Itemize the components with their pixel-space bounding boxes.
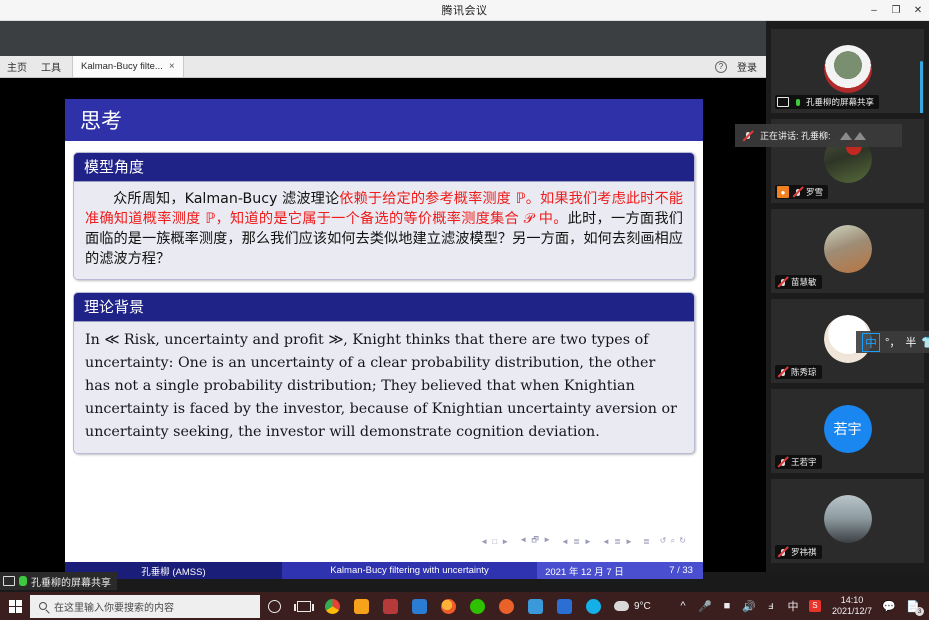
system-tray: ^ 🎤 ■ 🔊 ⅎ 中 S 14:10 2021/12/7 💬 📄 3 <box>672 592 929 620</box>
minimize-button[interactable]: – <box>863 0 885 21</box>
participant-label: 罗祎祺 <box>775 545 822 559</box>
ime-punctuation-icon[interactable]: °， <box>885 334 900 350</box>
english-paragraph: In ≪ Risk, uncertainty and profit ≫, Kni… <box>85 329 683 445</box>
windows-logo-icon <box>9 600 22 613</box>
nav-glyph-back-search-forward[interactable]: ↺ ⌕ ↻ <box>660 536 687 546</box>
microphone-on-icon <box>792 96 803 108</box>
bluetooth-tray-icon[interactable]: ⅎ <box>760 592 782 620</box>
nav-glyph-slide[interactable]: ◄ □ ► <box>480 537 510 546</box>
footer-meta: 2021 年 12 月 7 日 7 / 33 <box>537 562 703 579</box>
block-theoretical-background: 理论背景 In ≪ Risk, uncertainty and profit ≫… <box>73 292 695 455</box>
footer-page-number: 7 / 33 <box>669 565 693 576</box>
avatar <box>824 45 872 93</box>
window-titlebar: 腾讯会议 – ❐ ✕ <box>0 0 929 21</box>
participant-label: 王若宇 <box>775 455 822 469</box>
audio-wave-icon <box>840 132 866 140</box>
tray-expand-button[interactable]: ^ <box>672 592 694 620</box>
cloud-icon <box>614 601 629 611</box>
participant-name: 苗慧敏 <box>791 276 817 288</box>
taskbar-app-tim[interactable] <box>579 592 608 620</box>
avatar-image <box>824 225 872 273</box>
participant-label: 苗慧敏 <box>775 275 822 289</box>
microphone-muted-icon <box>777 456 788 468</box>
task-view-icon <box>297 601 311 612</box>
taskbar-app-chrome[interactable] <box>318 592 347 620</box>
task-view-button[interactable] <box>289 592 318 620</box>
participant-label: 陈秀琼 <box>775 365 822 379</box>
clock-time: 14:10 <box>832 595 872 606</box>
screen-share-icon <box>3 576 15 586</box>
participant-tile[interactable]: 罗祎祺 <box>771 479 924 563</box>
tim-icon <box>586 599 601 614</box>
document-tab[interactable]: Kalman-Bucy filte... × <box>72 56 184 77</box>
sogou-ime-icon[interactable]: S <box>804 592 826 620</box>
ime-shape-icon[interactable]: 👕 <box>921 336 929 349</box>
host-badge-icon: ● <box>777 186 789 198</box>
nav-glyph-section[interactable]: ◄ ≣ ► <box>602 537 634 546</box>
close-tab-icon[interactable]: × <box>169 61 175 72</box>
block-model-perspective: 模型角度 众所周知，Kalman-Bucy 滤波理论依赖于给定的参考概率测度 ℙ… <box>73 152 695 280</box>
cortana-button[interactable] <box>260 592 289 620</box>
screen-share-toast[interactable]: 孔垂柳的屏幕共享 <box>0 572 117 590</box>
microphone-muted-icon <box>742 130 753 142</box>
block-content: In ≪ Risk, uncertainty and profit ≫, Kni… <box>74 322 694 454</box>
block-content: 众所周知，Kalman-Bucy 滤波理论依赖于给定的参考概率测度 ℙ。如果我们… <box>74 182 694 279</box>
action-center-icon[interactable]: 💬 <box>878 592 900 620</box>
nav-glyph-document[interactable]: ≣ <box>643 537 651 546</box>
block-heading: 理论背景 <box>74 293 694 322</box>
taskbar-clock[interactable]: 14:10 2021/12/7 <box>826 595 878 617</box>
ime-language-icon[interactable]: 中 <box>782 592 804 620</box>
battery-tray-icon[interactable]: ■ <box>716 592 738 620</box>
taskbar-app-folder[interactable] <box>347 592 376 620</box>
taskbar-app-wechat[interactable] <box>463 592 492 620</box>
shared-screen-content: 主页 工具 Kalman-Bucy filte... × ? 登录 思考 <box>0 21 766 572</box>
footer-date: 2021 年 12 月 7 日 <box>545 564 624 578</box>
speaking-banner-text: 正在讲话: 孔垂柳: <box>760 129 831 142</box>
participant-name: 王若宇 <box>791 456 817 468</box>
ime-width-icon[interactable]: 半 <box>905 334 916 350</box>
start-button[interactable] <box>0 592 30 620</box>
login-button[interactable]: 登录 <box>737 59 757 74</box>
taskbar-app-meeting[interactable] <box>550 592 579 620</box>
taskbar-app-browser2[interactable] <box>492 592 521 620</box>
document-tab-label: Kalman-Bucy filte... <box>81 61 163 72</box>
notification-count-badge: 3 <box>915 607 924 616</box>
nav-glyph-subsection[interactable]: ◄ ≣ ► <box>561 537 593 546</box>
slide-footer: 孔垂柳 (AMSS) Kalman-Bucy filtering with un… <box>65 562 703 579</box>
shared-screen-area: 主页 工具 Kalman-Bucy filte... × ? 登录 思考 <box>0 21 766 572</box>
avatar-image <box>824 495 872 543</box>
chinese-paragraph: 众所周知，Kalman-Bucy 滤波理论依赖于给定的参考概率测度 ℙ。如果我们… <box>85 189 683 270</box>
microphone-muted-icon <box>792 186 803 198</box>
reader-app-band <box>0 21 766 56</box>
maximize-button[interactable]: ❐ <box>885 0 907 21</box>
mail-icon <box>412 599 427 614</box>
wechat-icon <box>470 599 485 614</box>
participant-tile[interactable]: 苗慧敏 <box>771 209 924 293</box>
avatar: 若宇 <box>824 405 872 453</box>
photos-icon <box>528 599 543 614</box>
ime-overlay[interactable]: 中 °， 半 👕 <box>856 331 929 353</box>
beamer-navigation: ◄ □ ► ◄ 🗗 ► ◄ ≣ ► ◄ ≣ ► ≣ ↺ ⌕ ↻ <box>65 534 703 548</box>
folder-icon <box>354 599 369 614</box>
browser-icon <box>499 599 514 614</box>
text-segment-black-1: 众所周知，Kalman-Bucy 滤波理论 <box>113 191 339 207</box>
menu-item-tools[interactable]: 工具 <box>34 56 68 77</box>
speaking-banner: 正在讲话: 孔垂柳: <box>735 124 902 147</box>
microphone-muted-icon <box>777 546 788 558</box>
reader-tabbar-right: ? 登录 <box>715 56 766 77</box>
window-controls: – ❐ ✕ <box>863 0 929 21</box>
window-title: 腾讯会议 <box>442 2 488 18</box>
taskbar-app-firefox[interactable] <box>434 592 463 620</box>
notification-center-button[interactable]: 📄 3 <box>900 592 926 620</box>
microphone-muted-icon <box>777 276 788 288</box>
participant-name: 陈秀琼 <box>791 366 817 378</box>
avatar-initials: 若宇 <box>824 405 872 453</box>
nav-glyph-frame[interactable]: ◄ 🗗 ► <box>519 534 552 548</box>
meeting-icon <box>557 599 572 614</box>
close-button[interactable]: ✕ <box>907 0 929 21</box>
cortana-icon <box>268 600 281 613</box>
clock-date: 2021/12/7 <box>832 606 872 617</box>
screen-share-toast-text: 孔垂柳的屏幕共享 <box>31 574 111 589</box>
weather-widget[interactable]: 9°C <box>614 601 651 612</box>
chrome-icon <box>325 599 340 614</box>
participant-tile[interactable]: 若宇 王若宇 <box>771 389 924 473</box>
search-icon <box>39 602 47 610</box>
help-icon[interactable]: ? <box>715 61 727 73</box>
participant-tile[interactable]: 孔垂柳的屏幕共享 <box>771 29 924 113</box>
footer-subject: Kalman-Bucy filtering with uncertainty <box>282 562 537 579</box>
avatar-image <box>824 45 872 93</box>
participants-rail[interactable]: 孔垂柳的屏幕共享 ● 罗雪 苗慧敏 <box>766 21 929 572</box>
volume-tray-icon[interactable]: 🔊 <box>738 592 760 620</box>
rail-scrollbar[interactable] <box>920 61 923 113</box>
slide-title: 思考 <box>65 99 703 141</box>
participant-label: 孔垂柳的屏幕共享 <box>775 95 879 109</box>
reader-tabbar: 主页 工具 Kalman-Bucy filte... × ? 登录 <box>0 56 766 78</box>
firefox-icon <box>441 599 456 614</box>
avatar <box>824 225 872 273</box>
participant-label: ● 罗雪 <box>775 185 828 199</box>
menu-item-home[interactable]: 主页 <box>0 56 34 77</box>
search-placeholder: 在这里输入你要搜索的内容 <box>54 599 174 614</box>
slide-body: 模型角度 众所周知，Kalman-Bucy 滤波理论依赖于给定的参考概率测度 ℙ… <box>65 141 703 454</box>
windows-taskbar: 在这里输入你要搜索的内容 9°C ^ 🎤 ■ 🔊 ⅎ 中 S 14:10 <box>0 592 929 620</box>
screen-share-icon <box>777 97 789 107</box>
block-heading: 模型角度 <box>74 153 694 182</box>
taskbar-app-photos[interactable] <box>521 592 550 620</box>
participant-name: 孔垂柳的屏幕共享 <box>806 96 874 108</box>
weather-temperature: 9°C <box>634 601 651 612</box>
avatar <box>824 495 872 543</box>
ime-mode-icon[interactable]: 中 <box>862 333 880 352</box>
text-segment-red-1: 依赖于给定的参考概率测度 ℙ。 <box>339 191 540 207</box>
pdf-slide: 思考 模型角度 众所周知，Kalman-Bucy 滤波理论依赖于给定的参考概率测… <box>65 99 703 579</box>
store-icon <box>383 599 398 614</box>
taskbar-app-store[interactable] <box>376 592 405 620</box>
microphone-tray-icon[interactable]: 🎤 <box>694 592 716 620</box>
search-input[interactable]: 在这里输入你要搜索的内容 <box>30 595 260 618</box>
microphone-on-icon <box>19 576 27 586</box>
participant-name: 罗雪 <box>806 186 823 198</box>
taskbar-app-mail[interactable] <box>405 592 434 620</box>
participant-name: 罗祎祺 <box>791 546 817 558</box>
microphone-muted-icon <box>777 366 788 378</box>
